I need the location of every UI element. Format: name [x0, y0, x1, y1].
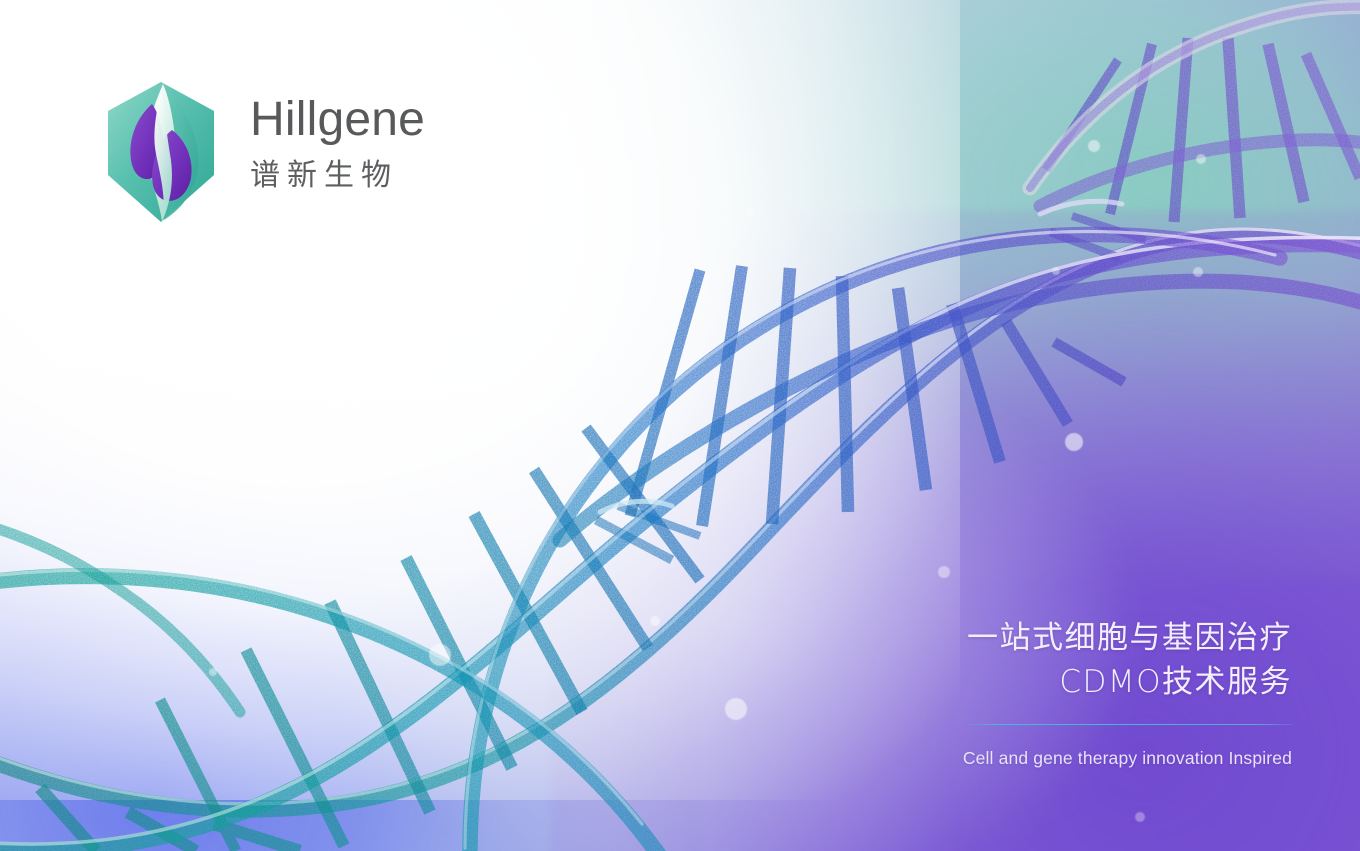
bokeh-dot [725, 698, 747, 720]
tagline-line-1: 一站式细胞与基因治疗 [952, 616, 1292, 660]
bokeh-dot [650, 616, 660, 626]
bokeh-dot [1065, 433, 1083, 451]
brand-name-en: Hillgene [250, 96, 425, 144]
bokeh-dot [938, 566, 950, 578]
logo-svg [100, 78, 222, 226]
bokeh-dot [589, 456, 597, 464]
bokeh-dot [1088, 140, 1100, 152]
tagline-block: 一站式细胞与基因治疗 CDMO技术服务 Cell and gene therap… [952, 616, 1292, 770]
tagline-english: Cell and gene therapy innovation Inspire… [952, 747, 1292, 770]
tagline-line-2: CDMO技术服务 [952, 660, 1292, 704]
bokeh-dot [1135, 812, 1145, 822]
bokeh-dot [1196, 154, 1206, 164]
bokeh-dot [209, 668, 217, 676]
brand-text: Hillgene 谱新生物 [250, 96, 425, 191]
bokeh-dot [746, 208, 754, 216]
brand-logo-block: Hillgene 谱新生物 [100, 78, 425, 226]
hero-banner: Hillgene 谱新生物 一站式细胞与基因治疗 CDMO技术服务 Cell a… [0, 0, 1360, 851]
bokeh-dot [1052, 267, 1060, 275]
bokeh-dot [1193, 267, 1203, 277]
bokeh-dot [429, 644, 451, 666]
hillgene-hexagon-leaf-logo [100, 78, 222, 226]
brand-name-cn: 谱新生物 [250, 161, 425, 191]
tagline-divider [962, 724, 1292, 725]
